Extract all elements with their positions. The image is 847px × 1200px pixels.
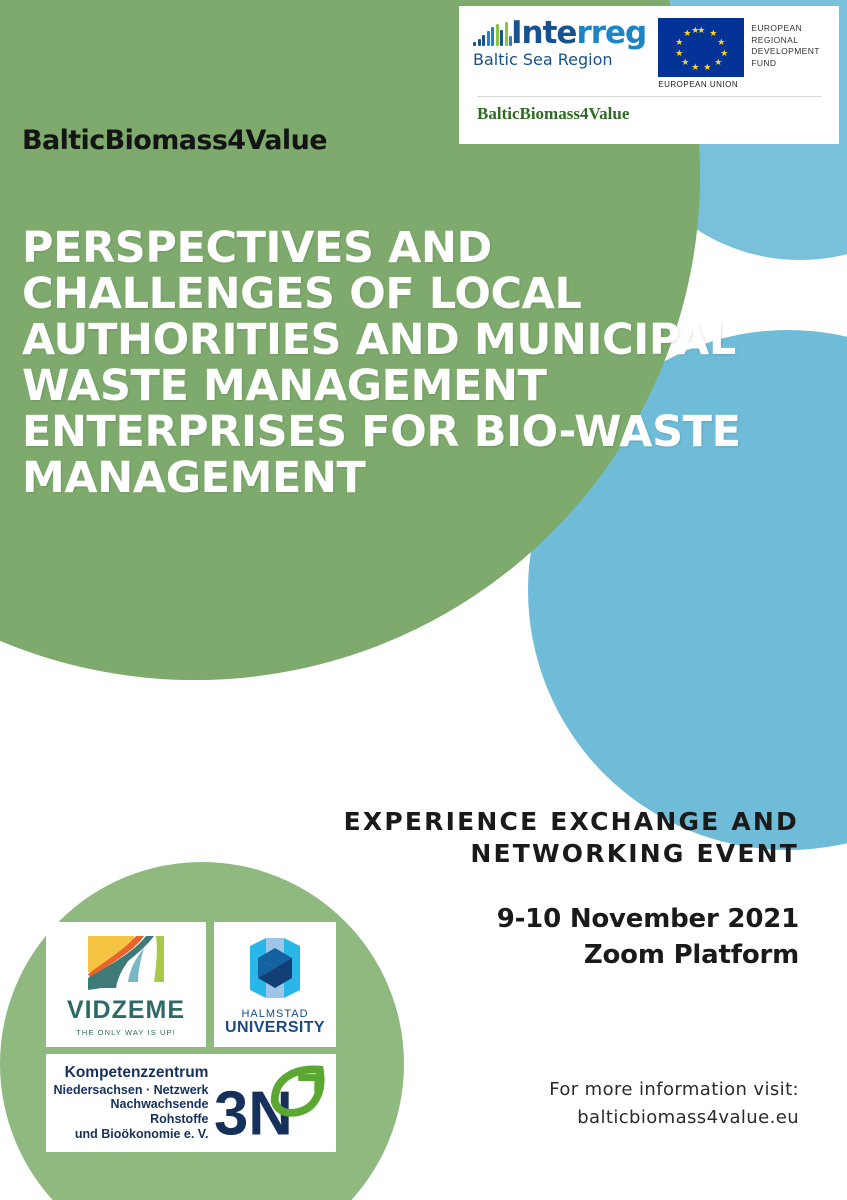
logo-divider [477, 96, 821, 97]
vidzeme-name: VIDZEME [67, 996, 185, 1025]
halmstad-line2: UNIVERSITY [225, 1020, 325, 1037]
interreg-bars-icon [473, 20, 512, 48]
interreg-wordmark-row: Interreg [473, 20, 646, 48]
vidzeme-mark-icon [80, 932, 172, 994]
kompetenzzentrum-logo-card: Kompetenzzentrum Niedersachsen · Netzwer… [46, 1054, 336, 1152]
kz-line3: Nachwachsende Rohstoffe [52, 1097, 208, 1127]
interreg-logo-box: Interreg Baltic Sea Region ★ ★ ★ ★ ★ ★ [459, 6, 839, 144]
eu-inline: ★ ★ ★ ★ ★ ★ ★ ★ ★ ★ ★ ★ [658, 18, 820, 89]
eu-union-label: EUROPEAN UNION [658, 80, 744, 89]
eu-flag-icon: ★ ★ ★ ★ ★ ★ ★ ★ ★ ★ ★ ★ [658, 18, 744, 77]
event-meta: 9-10 November 2021 Zoom Platform [259, 902, 799, 974]
partner-logos: VIDZEME THE ONLY WAY IS UP! HA [46, 922, 336, 1152]
vidzeme-logo-card: VIDZEME THE ONLY WAY IS UP! [46, 922, 206, 1047]
website-link[interactable]: balticbiomass4value.eu [259, 1104, 799, 1132]
logo-row: Interreg Baltic Sea Region ★ ★ ★ ★ ★ ★ [473, 16, 825, 89]
page-title: PERSPECTIVES AND CHALLENGES OF LOCAL AUT… [22, 225, 752, 501]
interreg-word-tail: rreg [576, 15, 646, 51]
interreg-subtitle: Baltic Sea Region [473, 50, 646, 69]
more-info: For more information visit: balticbiomas… [259, 1076, 799, 1133]
event-date: 9-10 November 2021 [259, 902, 799, 938]
interreg-wordmark: Interreg [511, 20, 646, 48]
event-subtitle: EXPERIENCE EXCHANGE AND NETWORKING EVENT [259, 806, 799, 870]
eu-flag-column: ★ ★ ★ ★ ★ ★ ★ ★ ★ ★ ★ ★ [658, 18, 744, 89]
eu-emblem-block: ★ ★ ★ ★ ★ ★ ★ ★ ★ ★ ★ ★ [658, 16, 820, 89]
kz-line2: Niedersachsen · Netzwerk [52, 1083, 208, 1098]
interreg-word-head: Inte [511, 15, 576, 51]
poster: Interreg Baltic Sea Region ★ ★ ★ ★ ★ ★ [0, 0, 847, 1200]
partner-logos-row: VIDZEME THE ONLY WAY IS UP! HA [46, 922, 336, 1047]
3n-leaf-icon: 3N [212, 1063, 330, 1143]
kz-line4: und Bioökonomie e. V. [52, 1127, 208, 1142]
interreg-logo: Interreg Baltic Sea Region [473, 16, 646, 69]
halmstad-mark-icon [236, 932, 314, 1004]
halmstad-logo-card: HALMSTAD UNIVERSITY [214, 922, 336, 1047]
project-name-logo: BalticBiomass4Value [477, 104, 825, 124]
kz-line1: Kompetenzzentrum [52, 1064, 208, 1082]
kompetenzzentrum-text: Kompetenzzentrum Niedersachsen · Netzwer… [52, 1064, 208, 1141]
more-info-label: For more information visit: [259, 1076, 799, 1104]
erdf-label: EUROPEAN REGIONAL DEVELOPMENT FUND [751, 18, 820, 70]
event-platform: Zoom Platform [259, 938, 799, 974]
brand-label: BalticBiomass4Value [22, 125, 327, 156]
vidzeme-tagline: THE ONLY WAY IS UP! [76, 1028, 176, 1037]
